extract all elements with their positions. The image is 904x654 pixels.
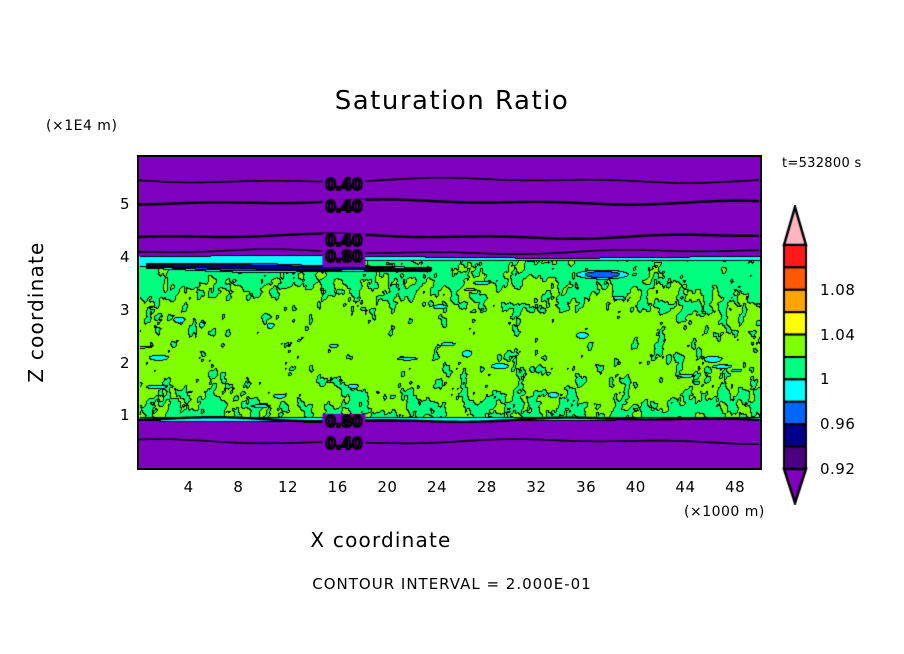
time-label: t=532800 s [782,156,862,171]
x-tick-label: 44 [675,478,695,496]
y-axis-title: Z coordinate [24,212,48,412]
x-tick-label: 32 [526,478,546,496]
y-tick-label: 1 [108,406,130,424]
y-tick-label: 5 [108,195,130,213]
x-tick-label: 12 [278,478,298,496]
x-tick-label: 8 [233,478,243,496]
y-tick-label: 2 [108,354,130,372]
colorbar [780,205,810,505]
x-tick-label: 4 [184,478,194,496]
colorbar-tick-label: 0.92 [820,460,855,478]
contour-interval-caption: CONTOUR INTERVAL = 2.000E-01 [0,575,904,593]
x-tick-label: 48 [725,478,745,496]
x-tick-label: 24 [427,478,447,496]
x-axis-units: (×1000 m) [684,504,765,520]
x-tick-label: 40 [626,478,646,496]
x-tick-label: 28 [477,478,497,496]
saturation-field-canvas [139,157,760,468]
colorbar-tick-label: 0.96 [820,415,855,433]
y-tick-label: 4 [108,248,130,266]
page-title: Saturation Ratio [0,86,904,116]
z-axis-units: (×1E4 m) [46,118,117,134]
colorbar-tick-label: 1.08 [820,281,855,299]
x-tick-label: 36 [576,478,596,496]
colorbar-canvas [780,205,810,505]
x-tick-label: 20 [377,478,397,496]
colorbar-tick-label: 1 [820,370,830,388]
x-axis-title: X coordinate [0,528,762,552]
y-tick-label: 3 [108,301,130,319]
colorbar-tick-label: 1.04 [820,326,855,344]
contour-plot-area [137,155,762,470]
x-tick-label: 16 [328,478,348,496]
